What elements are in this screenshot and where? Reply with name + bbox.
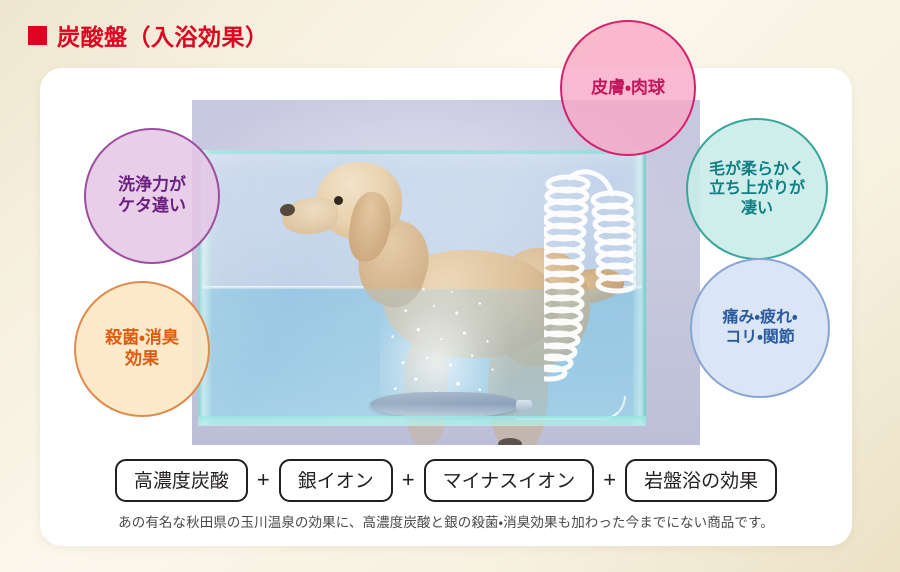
tank-right-glass-pane	[633, 150, 646, 425]
bubble-column	[380, 280, 508, 398]
square-bullet-icon	[28, 26, 47, 45]
page-title: 炭酸盤（入浴効果）	[28, 18, 269, 52]
page-root: 炭酸盤（入浴効果）	[0, 0, 900, 572]
dog-paw	[498, 438, 522, 445]
caption-text: あの有名な秋田県の玉川温泉の効果に、高濃度炭酸と銀の殺菌・消臭効果も加わった今ま…	[40, 511, 852, 531]
badge-soft-coat: 毛が柔らかく 立ち上がりが 凄い	[686, 118, 828, 260]
badge-pain-relief: 痛み・疲れ・ コリ・関節	[690, 258, 830, 398]
badge-sterilize-deodorize-label: 殺菌・消臭 効果	[105, 328, 179, 369]
carbonation-disc	[370, 392, 520, 417]
badge-soft-coat-label: 毛が柔らかく 立ち上がりが 凄い	[709, 160, 805, 219]
formula-chip-ganbanyoku: 岩盤浴の効果	[625, 459, 777, 502]
badge-sterilize-deodorize: 殺菌・消臭 効果	[74, 281, 210, 417]
badge-skin-paw-label: 皮膚・肉球	[591, 78, 665, 99]
formula-plus-1: +	[257, 469, 270, 493]
tube-fitting	[516, 400, 532, 411]
coiled-hose	[544, 166, 636, 414]
badge-skin-paw: 皮膚・肉球	[560, 20, 696, 156]
dog-eye	[334, 196, 343, 205]
formula-chip-minus-ion: マイナスイオン	[424, 459, 595, 502]
formula-plus-3: +	[603, 469, 616, 493]
formula-plus-2: +	[402, 469, 415, 493]
tank-bottom-glass-edge	[198, 416, 646, 426]
badge-cleaning-power-label: 洗浄力が ケタ違い	[118, 175, 186, 216]
badge-pain-relief-label: 痛み・疲れ・ コリ・関節	[723, 308, 798, 347]
formula-row: 高濃度炭酸 + 銀イオン + マイナスイオン + 岩盤浴の効果	[40, 459, 852, 502]
badge-cleaning-power: 洗浄力が ケタ違い	[84, 128, 220, 264]
formula-chip-carbonic: 高濃度炭酸	[115, 459, 248, 502]
formula-chip-silver-ion: 銀イオン	[279, 459, 393, 502]
page-title-text: 炭酸盤（入浴効果）	[57, 18, 269, 52]
